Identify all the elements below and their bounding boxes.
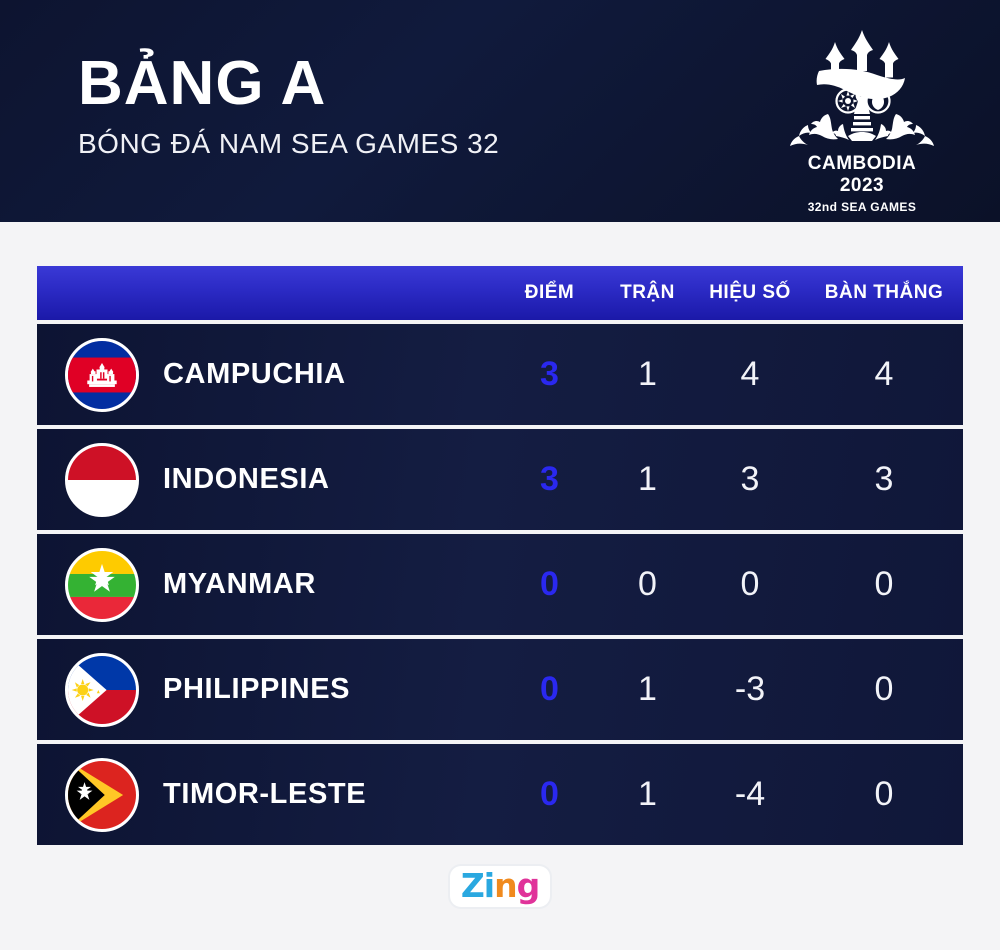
page-title: BẢNG A <box>78 52 499 115</box>
cell-played: 1 <box>600 355 695 394</box>
table-row[interactable]: CAMPUCHIA 3 1 4 4 <box>37 324 963 425</box>
team-name: CAMPUCHIA <box>163 358 346 391</box>
column-header-goals-for: BÀN THẮNG <box>805 282 963 304</box>
cell-goal-difference: -3 <box>695 670 805 709</box>
cell-goal-difference: -4 <box>695 775 805 814</box>
cell-goals-for: 4 <box>805 355 963 394</box>
table-row[interactable]: TIMOR-LESTE 0 1 -4 0 <box>37 744 963 845</box>
zing-letter-g: g <box>517 866 540 905</box>
myanmar-flag-icon <box>65 548 139 622</box>
zing-letter-n: n <box>494 866 517 905</box>
cell-goal-difference: 3 <box>695 460 805 499</box>
zing-logo: Zing <box>0 866 1000 907</box>
zing-letter-i: i <box>484 866 494 905</box>
page-header: BẢNG A BÓNG ĐÁ NAM SEA GAMES 32 <box>0 0 1000 222</box>
column-header-points: ĐIỂM <box>499 282 600 304</box>
team-cell: MYANMAR <box>37 548 499 622</box>
cell-goals-for: 0 <box>805 775 963 814</box>
team-cell: INDONESIA <box>37 443 499 517</box>
indonesia-flag-icon <box>65 443 139 517</box>
cell-points: 0 <box>499 670 600 709</box>
cell-goals-for: 3 <box>805 460 963 499</box>
cambodia-flag-icon <box>65 338 139 412</box>
cell-points: 3 <box>499 355 600 394</box>
team-cell: CAMPUCHIA <box>37 338 499 412</box>
cell-goal-difference: 0 <box>695 565 805 604</box>
sea-games-logo-art <box>786 24 938 152</box>
cell-played: 1 <box>600 775 695 814</box>
cell-points: 3 <box>499 460 600 499</box>
cell-points: 0 <box>499 565 600 604</box>
cell-played: 0 <box>600 565 695 604</box>
table-row[interactable]: MYANMAR 0 0 0 0 <box>37 534 963 635</box>
team-name: TIMOR-LESTE <box>163 778 366 811</box>
standings-table: ĐIỂM TRẬN HIỆU SỐ BÀN THẮNG <box>37 266 963 845</box>
philippines-flag-icon <box>65 653 139 727</box>
cell-goal-difference: 4 <box>695 355 805 394</box>
cell-played: 1 <box>600 460 695 499</box>
column-header-goal-difference: HIỆU SỐ <box>695 282 805 304</box>
column-header-played: TRẬN <box>600 282 695 304</box>
team-name: MYANMAR <box>163 568 316 601</box>
table-row[interactable]: INDONESIA 3 1 3 3 <box>37 429 963 530</box>
team-cell: TIMOR-LESTE <box>37 758 499 832</box>
table-header-row: ĐIỂM TRẬN HIỆU SỐ BÀN THẮNG <box>37 266 963 320</box>
team-cell: PHILIPPINES <box>37 653 499 727</box>
table-row[interactable]: PHILIPPINES 0 1 -3 0 <box>37 639 963 740</box>
cell-goals-for: 0 <box>805 670 963 709</box>
zing-letter-z: Z <box>461 866 484 905</box>
team-name: PHILIPPINES <box>163 673 350 706</box>
team-name: INDONESIA <box>163 463 330 496</box>
logo-caption-subtitle: 32nd SEA GAMES <box>786 200 938 214</box>
cell-points: 0 <box>499 775 600 814</box>
cell-goals-for: 0 <box>805 565 963 604</box>
page-subtitle: BÓNG ĐÁ NAM SEA GAMES 32 <box>78 128 499 160</box>
sea-games-logo: CAMBODIA 2023 32nd SEA GAMES <box>786 24 938 202</box>
zing-logo-inner: Zing <box>450 866 550 907</box>
header-text-group: BẢNG A BÓNG ĐÁ NAM SEA GAMES 32 <box>78 52 499 160</box>
timor-leste-flag-icon <box>65 758 139 832</box>
logo-caption-title: CAMBODIA 2023 <box>786 153 938 197</box>
cell-played: 1 <box>600 670 695 709</box>
